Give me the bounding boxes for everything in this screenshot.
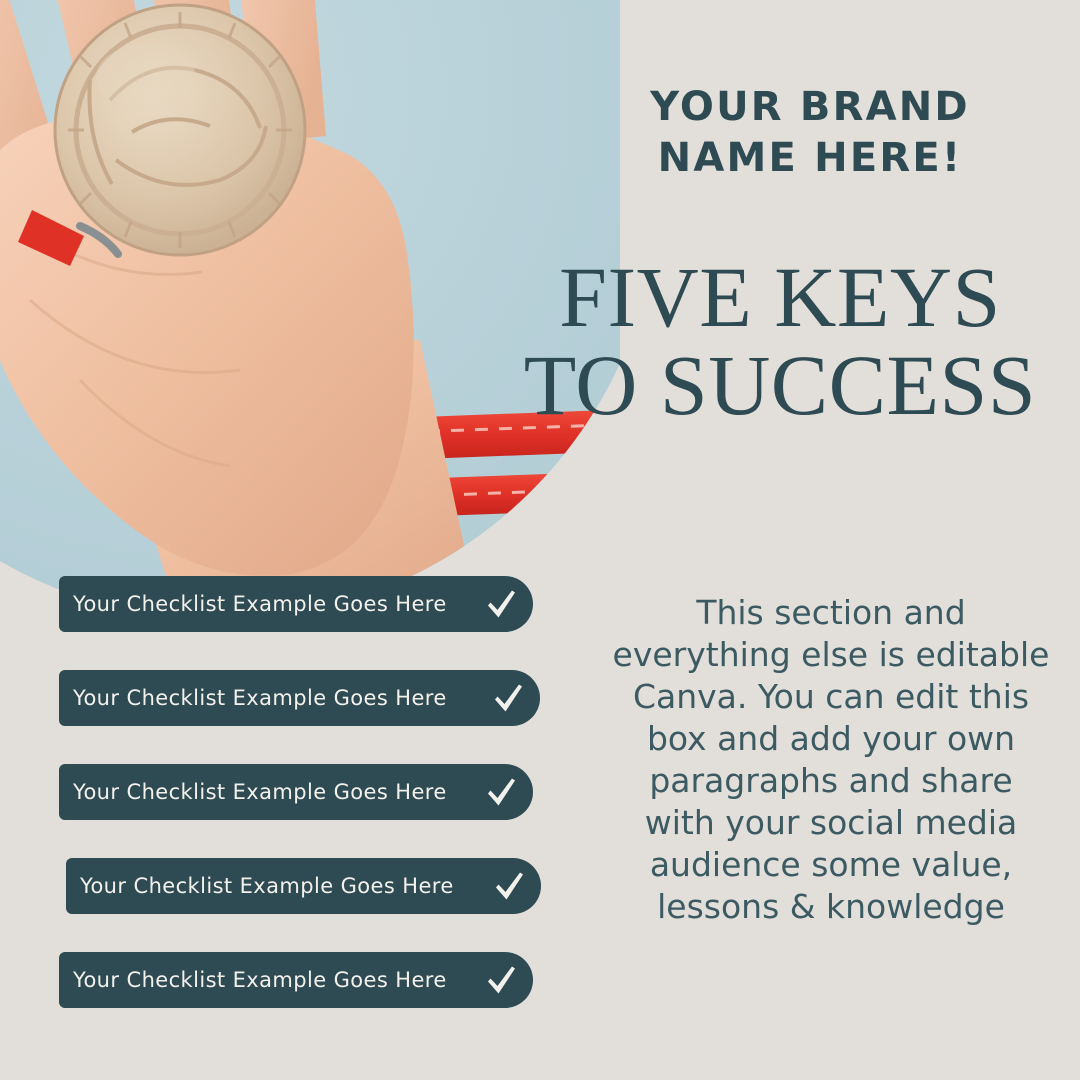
checklist-item[interactable]: Your Checklist Example Goes Here [59,670,540,726]
check-icon [489,866,529,906]
headline-line-1: FIVE KEYS [500,254,1060,342]
checklist-item-label: Your Checklist Example Goes Here [73,968,481,992]
check-icon [488,678,528,718]
paragraph-line: paragraphs and share [600,760,1062,802]
check-icon [481,960,521,1000]
brand-line-1: YOUR BRAND [560,82,1060,133]
paragraph-line: Canva. You can edit this [600,676,1062,718]
paragraph-line: This section and [600,592,1062,634]
paragraph-line: box and add your own [600,718,1062,760]
checklist-item[interactable]: Your Checklist Example Goes Here [59,764,533,820]
headline-title: FIVE KEYS TO SUCCESS [500,254,1060,429]
paragraph-line: audience some value, [600,844,1062,886]
social-media-post-canvas: YOUR BRAND NAME HERE! FIVE KEYS TO SUCCE… [0,0,1080,1080]
check-icon [481,584,521,624]
checklist-item-label: Your Checklist Example Goes Here [73,686,488,710]
check-icon [481,772,521,812]
checklist-item[interactable]: Your Checklist Example Goes Here [66,858,541,914]
medal [55,5,305,255]
checklist-item-label: Your Checklist Example Goes Here [80,874,489,898]
checklist-item[interactable]: Your Checklist Example Goes Here [59,952,533,1008]
checklist-item-label: Your Checklist Example Goes Here [73,780,481,804]
paragraph-line: with your social media [600,802,1062,844]
checklist-item[interactable]: Your Checklist Example Goes Here [59,576,533,632]
headline-line-2: TO SUCCESS [500,342,1060,430]
body-paragraph: This section and everything else is edit… [600,592,1062,928]
paragraph-line: lessons & knowledge [600,886,1062,928]
brand-line-2: NAME HERE! [560,133,1060,184]
brand-name: YOUR BRAND NAME HERE! [560,82,1060,184]
checklist-item-label: Your Checklist Example Goes Here [73,592,481,616]
paragraph-line: everything else is editable [600,634,1062,676]
